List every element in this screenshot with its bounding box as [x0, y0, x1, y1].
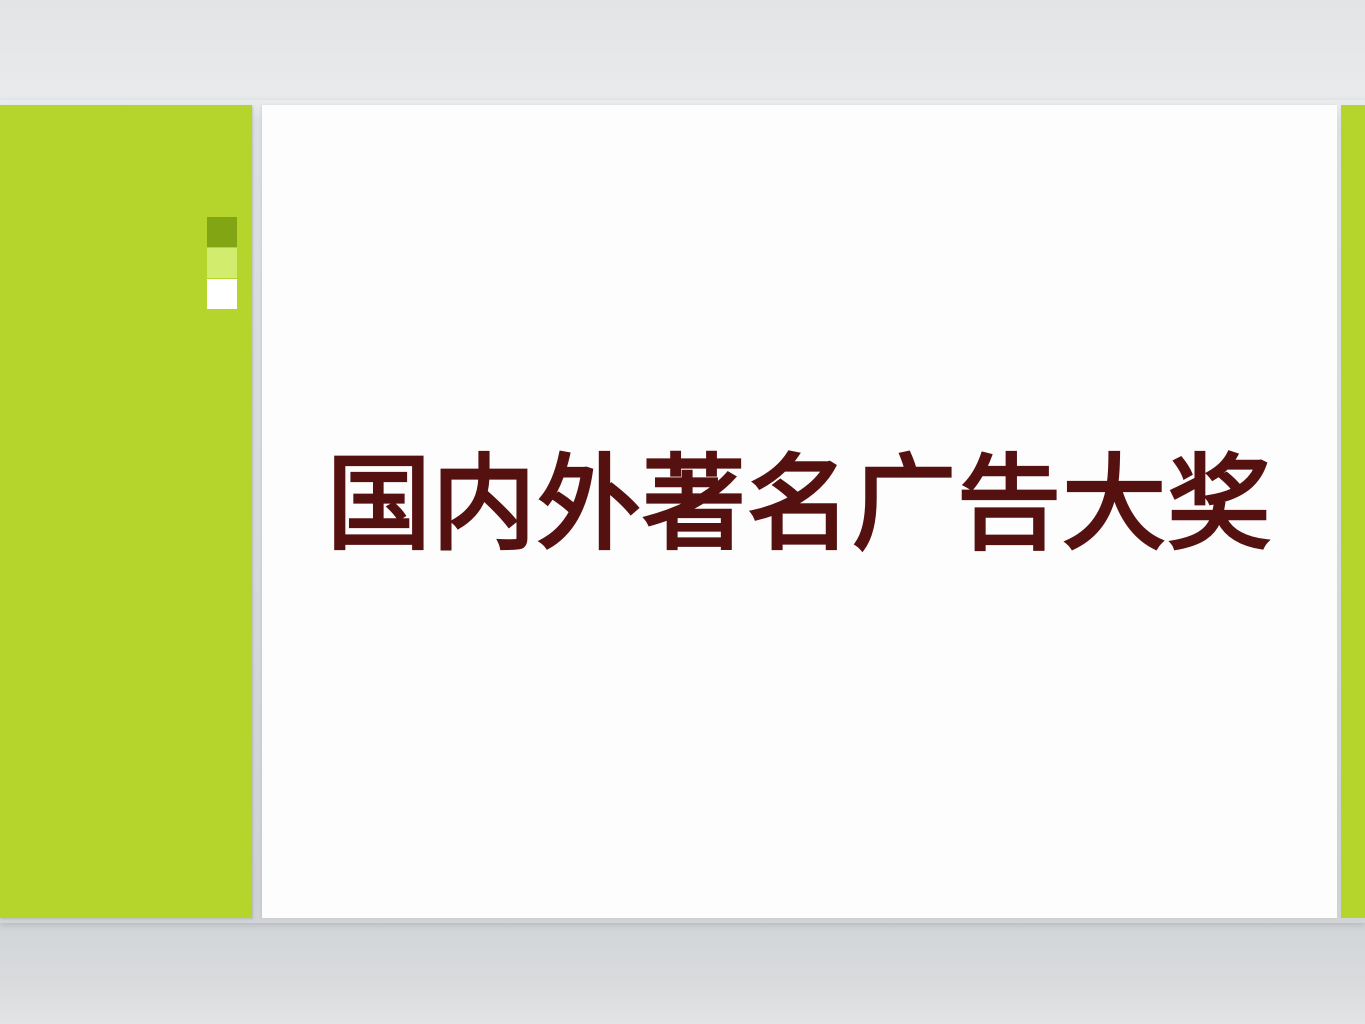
white-square-icon: [207, 279, 237, 309]
right-green-accent-strip: [1341, 105, 1365, 918]
decorative-squares-group: [207, 217, 237, 309]
slide-root: 国内外著名广告大奖: [0, 0, 1365, 1024]
light-green-square-icon: [207, 248, 237, 278]
dark-green-square-icon: [207, 217, 237, 247]
presentation-slide[interactable]: 国内外著名广告大奖: [0, 105, 1365, 918]
slide-content-area[interactable]: [262, 105, 1337, 918]
